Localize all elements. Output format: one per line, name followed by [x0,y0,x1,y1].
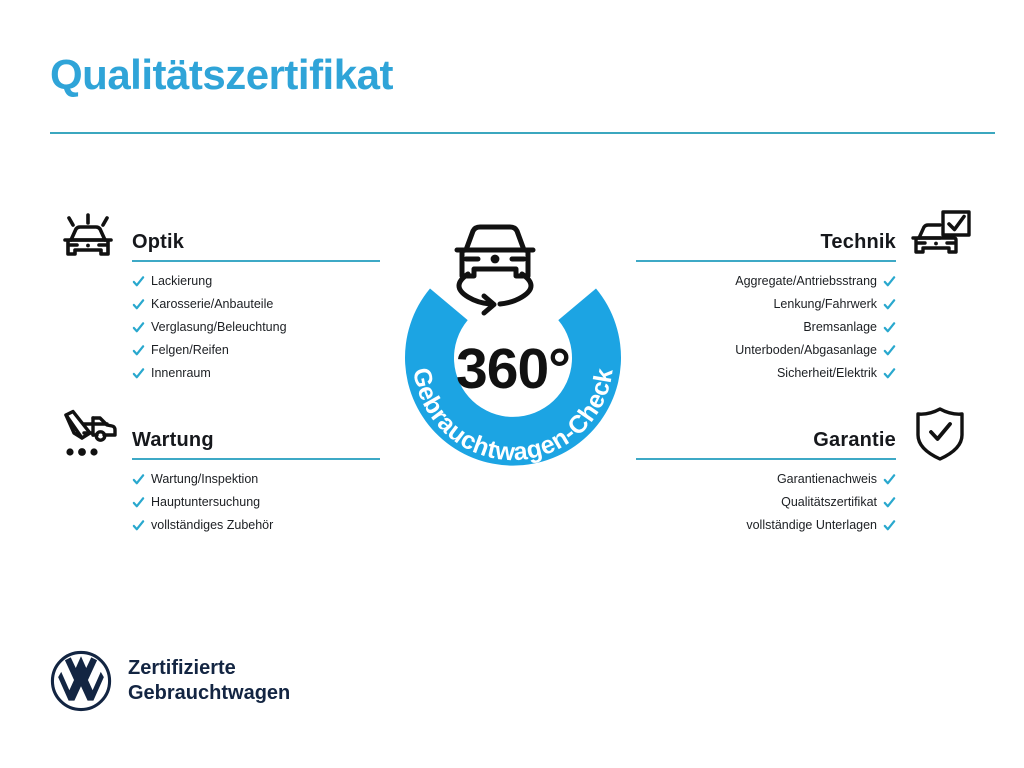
list-item-label: vollständiges Zubehör [151,519,273,532]
section-wartung: Wartung Wartung/Inspektion Hauptuntersuc… [48,402,380,537]
section-technik-header: Technik [636,204,980,270]
badge-360-check: Gebrauchtwagen-Check 360° [374,192,652,492]
list-item-label: Qualitätszertifikat [781,496,877,509]
list-item: Garantienachweis [636,468,896,491]
section-optik: Optik Lackierung Karosserie/Anbauteile V… [48,204,380,385]
list-item: Qualitätszertifikat [636,491,896,514]
list-item-label: Innenraum [151,367,211,380]
list-item-label: Lackierung [151,275,212,288]
section-optik-header: Optik [48,204,380,270]
section-wartung-title: Wartung [132,429,214,452]
footer-line-2: Gebrauchtwagen [128,681,290,706]
section-optik-underline [132,260,380,262]
check-icon [132,321,145,334]
list-item: Sicherheit/Elektrik [636,362,896,385]
section-wartung-list: Wartung/Inspektion Hauptuntersuchung vol… [48,468,380,537]
page-title: Qualitätszertifikat [50,52,393,98]
list-item: vollständige Unterlagen [636,514,896,537]
list-item: Unterboden/Abgasanlage [636,339,896,362]
list-item-label: Unterboden/Abgasanlage [735,344,877,357]
badge-center-label: 360° [456,337,570,401]
list-item-label: Verglasung/Beleuchtung [151,321,287,334]
check-icon [132,298,145,311]
list-item-label: vollständige Unterlagen [746,519,877,532]
check-icon [132,496,145,509]
list-item: Wartung/Inspektion [132,468,380,491]
section-wartung-underline [132,458,380,460]
list-item: vollständiges Zubehör [132,514,380,537]
list-item: Lenkung/Fahrwerk [636,293,896,316]
list-item-label: Bremsanlage [803,321,877,334]
list-item: Verglasung/Beleuchtung [132,316,380,339]
title-divider [50,132,995,134]
list-item-label: Sicherheit/Elektrik [777,367,877,380]
list-item-label: Lenkung/Fahrwerk [773,298,877,311]
section-garantie: Garantie Garantienachweis Qualitätszerti… [636,402,980,537]
check-icon [883,367,896,380]
car-checkbox-icon [900,204,980,268]
list-item: Karosserie/Anbauteile [132,293,380,316]
car-rotate-icon [457,227,533,313]
footer-line-1: Zertifizierte [128,656,290,681]
check-icon [883,275,896,288]
section-technik-list: Aggregate/Antriebsstrang Lenkung/Fahrwer… [636,270,980,385]
section-optik-list: Lackierung Karosserie/Anbauteile Verglas… [48,270,380,385]
check-icon [132,344,145,357]
pen-car-service-icon [48,402,128,466]
list-item-label: Aggregate/Antriebsstrang [735,275,877,288]
list-item: Hauptuntersuchung [132,491,380,514]
check-icon [883,321,896,334]
check-icon [132,519,145,532]
section-garantie-title: Garantie [813,429,896,452]
check-icon [132,275,145,288]
list-item-label: Felgen/Reifen [151,344,229,357]
list-item-label: Hauptuntersuchung [151,496,260,509]
certificate-page: Qualitätszertifikat Optik Lackierung [0,0,1024,768]
list-item: Aggregate/Antriebsstrang [636,270,896,293]
section-garantie-header: Garantie [636,402,980,468]
list-item: Felgen/Reifen [132,339,380,362]
section-optik-title: Optik [132,231,184,254]
section-technik-underline [636,260,896,262]
list-item: Innenraum [132,362,380,385]
section-garantie-underline [636,458,896,460]
list-item-label: Karosserie/Anbauteile [151,298,273,311]
list-item: Lackierung [132,270,380,293]
section-technik-title: Technik [821,231,897,254]
shield-check-icon [900,402,980,466]
car-shine-icon [48,204,128,268]
check-icon [132,367,145,380]
check-icon [883,496,896,509]
check-icon [132,473,145,486]
list-item: Bremsanlage [636,316,896,339]
vw-logo-icon [50,650,112,712]
check-icon [883,298,896,311]
section-wartung-header: Wartung [48,402,380,468]
list-item-label: Garantienachweis [777,473,877,486]
list-item-label: Wartung/Inspektion [151,473,258,486]
footer-logo-text: Zertifizierte Gebrauchtwagen [128,656,290,706]
check-icon [883,344,896,357]
check-icon [883,473,896,486]
footer-logo-block: Zertifizierte Gebrauchtwagen [50,650,290,712]
check-icon [883,519,896,532]
section-garantie-list: Garantienachweis Qualitätszertifikat vol… [636,468,980,537]
section-technik: Technik Aggregate/Antriebsstrang Lenkung… [636,204,980,385]
